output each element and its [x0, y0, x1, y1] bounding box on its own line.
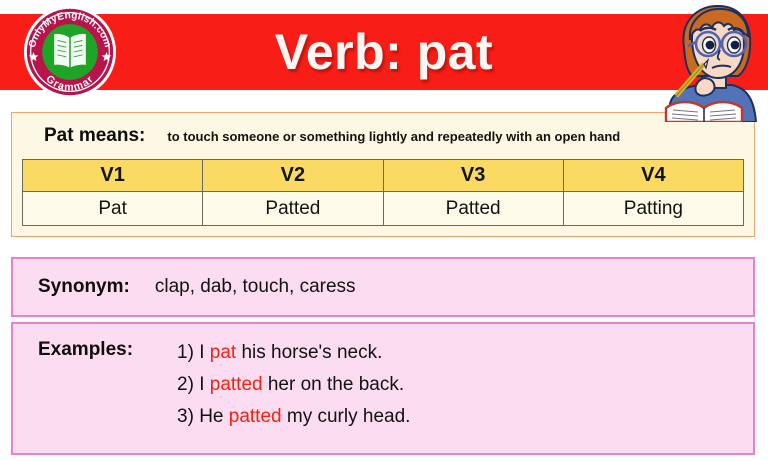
- example-highlight: patted: [210, 374, 263, 395]
- example-number: 1): [177, 342, 194, 363]
- definition-label: Pat means:: [44, 125, 145, 147]
- infographic-page: Verb: pat: [0, 0, 768, 461]
- example-after: his horse's neck.: [236, 342, 382, 363]
- definition-text: to touch someone or something lightly an…: [167, 129, 620, 144]
- column-header-v2: V2: [203, 160, 383, 192]
- example-before: He: [199, 406, 229, 427]
- mascot-svg: [646, 0, 766, 122]
- example-after: my curly head.: [282, 406, 411, 427]
- cell-v2: Patted: [203, 192, 383, 226]
- example-number: 3): [177, 406, 194, 427]
- definition-row: Pat means: to touch someone or something…: [12, 113, 754, 159]
- examples-label: Examples:: [38, 339, 133, 361]
- examples-box: Examples: 1) I pat his horse's neck. 2) …: [11, 322, 755, 455]
- cell-v1: Pat: [23, 192, 203, 226]
- table-header-row: V1 V2 V3 V4: [23, 160, 744, 192]
- example-before: I: [199, 374, 210, 395]
- example-number: 2): [177, 374, 194, 395]
- open-book-icon: [54, 33, 87, 68]
- example-before: I: [199, 342, 210, 363]
- example-after: her on the back.: [263, 374, 405, 395]
- cell-v4: Patting: [563, 192, 743, 226]
- column-header-v1: V1: [23, 160, 203, 192]
- synonym-label: Synonym:: [38, 276, 130, 298]
- definition-and-forms-box: Pat means: to touch someone or something…: [11, 112, 755, 237]
- list-item: 1) I pat his horse's neck.: [177, 337, 410, 369]
- example-highlight: pat: [210, 342, 236, 363]
- synonym-text: clap, dab, touch, caress: [155, 276, 356, 298]
- cell-v3: Patted: [383, 192, 563, 226]
- synonym-box: Synonym: clap, dab, touch, caress: [11, 257, 755, 317]
- list-item: 2) I patted her on the back.: [177, 369, 410, 401]
- list-item: 3) He patted my curly head.: [177, 401, 410, 433]
- examples-list: 1) I pat his horse's neck. 2) I patted h…: [177, 337, 410, 433]
- column-header-v4: V4: [563, 160, 743, 192]
- onlymyenglish-logo: OnlyMyEnglish.com Grammar: [22, 4, 118, 100]
- verb-forms-table: V1 V2 V3 V4 Pat Patted Patted Patting: [22, 159, 744, 226]
- logo-svg: OnlyMyEnglish.com Grammar: [22, 4, 118, 100]
- student-thinking-illustration: [646, 0, 766, 122]
- table-row: Pat Patted Patted Patting: [23, 192, 744, 226]
- column-header-v3: V3: [383, 160, 563, 192]
- example-highlight: patted: [229, 406, 282, 427]
